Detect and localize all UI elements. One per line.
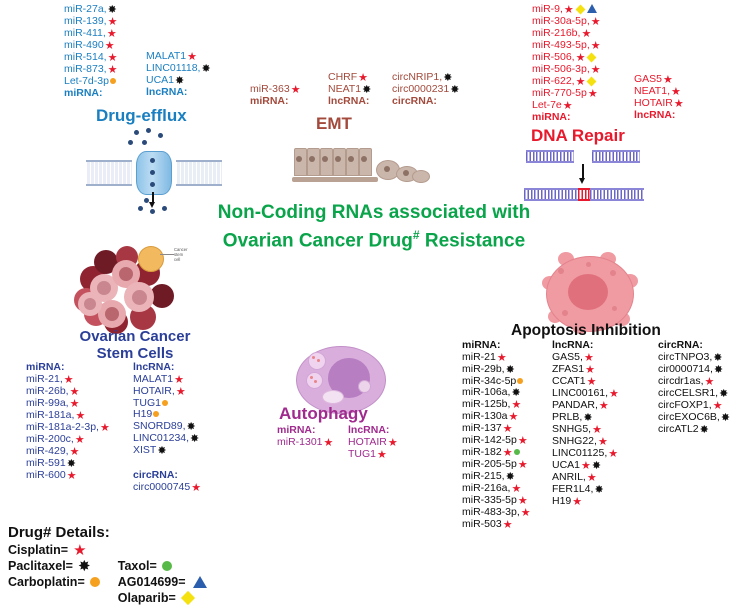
rna-name: miR-106a,: [462, 386, 510, 398]
cisplatin-star-icon: ★: [73, 543, 86, 558]
rna-name: circdr1as,: [658, 375, 704, 387]
cancer-stem-cell: [138, 246, 164, 272]
paclitaxel-burst-icon: ✸: [443, 73, 452, 84]
rna-name: LINC01234,: [133, 432, 189, 444]
cisplatin-star-icon: ★: [64, 375, 74, 386]
rna-name: miR-411,: [64, 27, 106, 39]
carboplatin-circle-icon: [90, 577, 100, 587]
paclitaxel-burst-icon: ✸: [157, 446, 166, 457]
rna-name: circFOXP1,: [658, 399, 712, 411]
rna-name: miR-21,: [26, 373, 63, 385]
cisplatin-star-icon: ★: [585, 365, 595, 376]
ocsc-circrna-list: circRNA:circ0000745★: [133, 470, 201, 494]
rna-name: miR-506-3p,: [532, 63, 590, 75]
title-superscript: #: [413, 228, 420, 242]
ocsc-lncrna-list: lncRNA:MALAT1★HOTAIR,★TUG1H19SNORD89,✸LI…: [133, 362, 199, 457]
cisplatin-star-icon: ★: [377, 450, 387, 461]
rna-class-header: miRNA:: [64, 88, 117, 100]
cisplatin-star-icon: ★: [713, 401, 723, 412]
paclitaxel-burst-icon: ✸: [583, 413, 592, 424]
cisplatin-star-icon: ★: [105, 41, 115, 52]
rna-class-header: circRNA:: [392, 96, 459, 108]
rna-name: Let-7d-3p: [64, 75, 109, 87]
carboplatin-circle-icon: [153, 411, 159, 417]
rna-name: ZFAS1: [552, 363, 584, 375]
rna-name: TUG1: [348, 448, 376, 460]
rna-name: circNRIP1,: [392, 71, 442, 83]
emt-circrna-list: circNRIP1,✸circ0000231✸circRNA:: [392, 72, 459, 108]
cisplatin-star-icon: ★: [663, 75, 673, 86]
cisplatin-star-icon: ★: [609, 389, 619, 400]
paclitaxel-burst-icon: ✸: [700, 425, 709, 436]
cisplatin-star-icon: ★: [497, 353, 507, 364]
section-title-dna-repair: DNA Repair: [531, 126, 625, 146]
cisplatin-star-icon: ★: [599, 401, 609, 412]
dna-repair-mirna-list: miR-9,★miR-30a-5p,★miR-216b,★miR-493-5p,…: [532, 4, 601, 124]
paclitaxel-burst-icon: ✸: [713, 353, 722, 364]
rna-name: miR-363: [250, 83, 290, 95]
paclitaxel-burst-icon: ✸: [594, 485, 603, 496]
rna-name: SNHG5,: [552, 423, 591, 435]
legend-row: Cisplatin=★: [8, 542, 100, 558]
rna-name: ANRIL,: [552, 471, 586, 483]
rna-name: PRLB,: [552, 411, 582, 423]
cisplatin-star-icon: ★: [509, 412, 519, 423]
rna-name: miR-335-5p: [462, 494, 517, 506]
drug-legend: Drug# Details: Cisplatin=★Paclitaxel=✸Ca…: [8, 524, 207, 606]
section-title-apoptosis: Apoptosis Inhibition: [511, 322, 661, 340]
paclitaxel-burst-icon: ✸: [450, 85, 459, 96]
rna-class-header: lncRNA:: [328, 96, 371, 108]
legend-label: Paclitaxel=: [8, 559, 73, 573]
cisplatin-star-icon: ★: [576, 53, 586, 64]
paclitaxel-burst-icon: ✸: [719, 389, 728, 400]
apoptosis-mirna-list: miRNA:miR-21★miR-29b,✸miR-34c-5pmiR-106a…: [462, 340, 531, 531]
rna-name: miR-99a,: [26, 397, 69, 409]
olaparib-diamond-icon: [587, 53, 597, 63]
olaparib-diamond-icon: [575, 5, 585, 15]
rna-name: CHRF: [328, 71, 357, 83]
rna-name: miR-139,: [64, 15, 107, 27]
cisplatin-star-icon: ★: [592, 425, 602, 436]
rna-entry: miR-1301★: [277, 437, 333, 449]
rna-name: circCELSR1,: [658, 387, 718, 399]
legend-title: Drug# Details:: [8, 524, 207, 541]
cisplatin-star-icon: ★: [576, 77, 586, 88]
dna-repair-lncrna-list: GAS5★NEAT1,★HOTAIR★lncRNA:: [634, 74, 684, 122]
ocsc-title-line2: Stem Cells: [97, 345, 174, 362]
rna-name: circATL2: [658, 423, 699, 435]
cisplatin-star-icon: ★: [108, 65, 118, 76]
rna-name: GAS5,: [552, 351, 583, 363]
paclitaxel-burst-icon: ✸: [190, 434, 199, 445]
section-title-drug-efflux: Drug-efflux: [96, 106, 187, 126]
rna-name: NEAT1,: [634, 85, 670, 97]
cisplatin-star-icon: ★: [291, 85, 301, 96]
cisplatin-star-icon: ★: [70, 399, 80, 410]
olaparib-diamond-icon: [181, 591, 195, 605]
cisplatin-star-icon: ★: [521, 508, 531, 519]
rna-name: FER1L4,: [552, 483, 593, 495]
rna-name: miR-137: [462, 422, 502, 434]
rna-name: miR-130a: [462, 410, 508, 422]
ag014699-triangle-icon: [193, 576, 207, 588]
paclitaxel-burst-icon: ✸: [721, 413, 730, 424]
cisplatin-star-icon: ★: [587, 377, 597, 388]
taxol-circle-icon: [162, 561, 172, 571]
rna-name: circ0000745: [133, 481, 190, 493]
rna-name: HOTAIR: [348, 436, 387, 448]
rna-name: Let-7e: [532, 99, 562, 111]
rna-name: GAS5: [634, 73, 662, 85]
rna-name: miR-600: [26, 469, 66, 481]
cisplatin-star-icon: ★: [107, 29, 117, 40]
rna-name: miR-622,: [532, 75, 575, 87]
stem-cell-annotation-line3: cell: [174, 257, 180, 262]
rna-name: miR-30a-5p,: [532, 15, 590, 27]
rna-name: NEAT1: [328, 83, 361, 95]
paclitaxel-burst-icon: ✸: [714, 365, 723, 376]
membrane-efflux-illustration: [86, 128, 222, 214]
rna-name: miR-21: [462, 351, 496, 363]
rna-name: CCAT1: [552, 375, 586, 387]
paclitaxel-burst-icon: ✸: [108, 5, 117, 16]
cisplatin-star-icon: ★: [564, 5, 574, 16]
rna-name: SNORD89,: [133, 420, 186, 432]
paclitaxel-burst-icon: ✸: [506, 365, 515, 376]
rna-name: miR-429,: [26, 445, 69, 457]
title-line-2-pre: Ovarian Cancer Drug: [223, 230, 413, 251]
legend-label: Taxol=: [118, 559, 157, 573]
rna-name: MALAT1: [133, 373, 173, 385]
rna-name: miR-29b,: [462, 363, 505, 375]
drug-efflux-lncrna-list: MALAT1★LINC01118,✸UCA1✸lncRNA:: [146, 51, 211, 99]
cisplatin-star-icon: ★: [75, 411, 85, 422]
cisplatin-star-icon: ★: [191, 483, 201, 494]
cisplatin-star-icon: ★: [503, 424, 513, 435]
legend-label: AG014699=: [118, 575, 186, 589]
drug-efflux-mirna-list: miR-27a,✸miR-139,★miR-411,★miR-490★miR-5…: [64, 4, 117, 99]
paclitaxel-burst-icon: ✸: [362, 85, 371, 96]
rna-name: HOTAIR: [634, 97, 673, 109]
paclitaxel-burst-icon: ✸: [187, 422, 196, 433]
rna-name: circTNPO3,: [658, 351, 712, 363]
rna-name: TUG1: [133, 397, 161, 409]
emt-lncrna-list: CHRF★NEAT1✸lncRNA:: [328, 72, 371, 108]
rna-name: circ0000231: [392, 83, 449, 95]
cisplatin-star-icon: ★: [176, 387, 186, 398]
legend-row: Olaparib=: [118, 590, 207, 606]
legend-label: Carboplatin=: [8, 575, 85, 589]
paclitaxel-burst-icon: ✸: [201, 64, 210, 75]
rna-name: miR-770-5p: [532, 87, 587, 99]
rna-name: miR-216b,: [532, 27, 580, 39]
cisplatin-star-icon: ★: [671, 87, 681, 98]
cisplatin-star-icon: ★: [100, 423, 110, 434]
carboplatin-circle-icon: [517, 378, 523, 384]
rna-name: MALAT1: [146, 50, 186, 62]
cisplatin-star-icon: ★: [503, 448, 513, 459]
cisplatin-star-icon: ★: [674, 99, 684, 110]
autophagy-lncrna-list: lncRNA:HOTAIR★TUG1★: [348, 425, 398, 461]
rna-name: circEXOC6B,: [658, 411, 720, 423]
legend-row: Carboplatin=: [8, 574, 100, 590]
cisplatin-star-icon: ★: [503, 520, 513, 531]
cisplatin-star-icon: ★: [518, 436, 528, 447]
cisplatin-star-icon: ★: [358, 73, 368, 84]
paclitaxel-burst-icon: ✸: [67, 459, 76, 470]
legend-row: Paclitaxel=✸: [8, 558, 100, 574]
legend-label: Olaparib=: [118, 591, 176, 605]
ovarian-cancer-stem-cells-illustration: Cancer stem cell: [72, 244, 200, 336]
paclitaxel-burst-icon: ✸: [511, 388, 520, 399]
rna-name: miR-514,: [64, 51, 107, 63]
rna-name: SNHG22,: [552, 435, 597, 447]
rna-name: miR-503: [462, 518, 502, 530]
ag014699-triangle-icon: [587, 4, 597, 13]
rna-entry: TUG1★: [348, 449, 398, 461]
rna-name: miR-216a,: [462, 482, 510, 494]
rna-entry: Let-7d-3p: [64, 76, 117, 88]
paclitaxel-burst-icon: ✸: [506, 472, 515, 483]
rna-name: miR-483-3p,: [462, 506, 520, 518]
carboplatin-circle-icon: [110, 78, 116, 84]
section-title-ocsc: Ovarian Cancer Stem Cells: [58, 328, 212, 362]
cisplatin-star-icon: ★: [588, 89, 598, 100]
cisplatin-star-icon: ★: [598, 437, 608, 448]
rna-name: miR-1301: [277, 436, 323, 448]
rna-name: miR-200c,: [26, 433, 74, 445]
emt-mirna-list: miR-363★miRNA:: [250, 84, 301, 108]
cisplatin-star-icon: ★: [388, 438, 398, 449]
cisplatin-star-icon: ★: [174, 375, 184, 386]
rna-name: UCA1: [146, 74, 174, 86]
legend-column-2: Taxol=AG014699=Olaparib=: [118, 542, 207, 606]
cisplatin-star-icon: ★: [581, 461, 591, 472]
cisplatin-star-icon: ★: [518, 460, 528, 471]
rna-name: cir0000714,: [658, 363, 713, 375]
rna-name: PANDAR,: [552, 399, 598, 411]
rna-name: miR-215,: [462, 470, 505, 482]
rna-name: miR-205-5p: [462, 458, 517, 470]
rna-name: miR-27a,: [64, 3, 107, 15]
rna-name: miR-125b,: [462, 398, 510, 410]
title-line-1: Non-Coding RNAs associated with: [218, 202, 530, 223]
paclitaxel-burst-icon: ✸: [175, 76, 184, 87]
cisplatin-star-icon: ★: [511, 484, 521, 495]
cisplatin-star-icon: ★: [108, 53, 118, 64]
legend-column-1: Cisplatin=★Paclitaxel=✸Carboplatin=: [8, 542, 100, 606]
rna-name: miR-182: [462, 446, 502, 458]
rna-name: miR-9,: [532, 3, 563, 15]
rna-class-header: miRNA:: [532, 112, 601, 124]
rna-name: miR-181a,: [26, 409, 74, 421]
rna-name: H19: [133, 408, 152, 420]
cisplatin-star-icon: ★: [108, 17, 118, 28]
rna-name: H19: [552, 495, 571, 507]
rna-entry: circATL2✸: [658, 424, 730, 436]
rna-name: LINC01118,: [146, 62, 200, 74]
taxol-circle-icon: [514, 449, 520, 455]
rna-entry: miR-503★: [462, 519, 531, 531]
olaparib-diamond-icon: [587, 77, 597, 87]
paclitaxel-burst-icon: ✸: [78, 559, 91, 574]
autophagy-mirna-list: miRNA:miR-1301★: [277, 425, 333, 449]
rna-name: miR-493-5p,: [532, 39, 590, 51]
emt-illustration: [292, 126, 432, 198]
cisplatin-star-icon: ★: [591, 41, 601, 52]
cisplatin-star-icon: ★: [324, 438, 334, 449]
cisplatin-star-icon: ★: [705, 377, 715, 388]
cisplatin-star-icon: ★: [70, 387, 80, 398]
legend-row: Taxol=: [118, 558, 207, 574]
rna-name: XIST: [133, 444, 156, 456]
carboplatin-circle-icon: [162, 400, 168, 406]
paclitaxel-burst-icon: ✸: [592, 461, 601, 472]
cisplatin-star-icon: ★: [587, 473, 597, 484]
cisplatin-star-icon: ★: [591, 65, 601, 76]
legend-label: Cisplatin=: [8, 543, 68, 557]
cisplatin-star-icon: ★: [187, 52, 197, 63]
cisplatin-star-icon: ★: [584, 353, 594, 364]
cisplatin-star-icon: ★: [563, 101, 573, 112]
ocsc-mirna-list: miRNA:miR-21,★miR-26b,★miR-99a,★miR-181a…: [26, 362, 110, 482]
rna-name: UCA1: [552, 459, 580, 471]
ocsc-title-line1: Ovarian Cancer: [80, 328, 191, 345]
rna-name: miR-506,: [532, 51, 575, 63]
cisplatin-star-icon: ★: [581, 29, 591, 40]
rna-entry: XIST✸: [133, 445, 199, 457]
dna-repair-illustration: [520, 148, 650, 204]
rna-name: miR-490: [64, 39, 104, 51]
rna-entry: miR-600★: [26, 470, 110, 482]
title-line-2-post: Resistance: [420, 230, 526, 251]
rna-name: LINC01125,: [552, 447, 607, 459]
rna-name: HOTAIR,: [133, 385, 175, 397]
cisplatin-star-icon: ★: [572, 497, 582, 508]
apoptosis-circrna-list: circRNA:circTNPO3,✸cir0000714,✸circdr1as…: [658, 340, 730, 436]
cisplatin-star-icon: ★: [591, 17, 601, 28]
rna-name: LINC00161,: [552, 387, 608, 399]
rna-name: miR-142-5p: [462, 434, 517, 446]
cisplatin-star-icon: ★: [608, 449, 618, 460]
rna-name: miR-34c-5p: [462, 375, 516, 387]
rna-entry: H19★: [552, 496, 619, 508]
cisplatin-star-icon: ★: [70, 447, 80, 458]
cisplatin-star-icon: ★: [75, 435, 85, 446]
cisplatin-star-icon: ★: [67, 471, 77, 482]
rna-entry: circ0000745★: [133, 482, 201, 494]
rna-class-header: lncRNA:: [146, 87, 211, 99]
rna-name: miR-181a-2-3p,: [26, 421, 99, 433]
rna-class-header: lncRNA:: [634, 110, 684, 122]
rna-name: miR-873,: [64, 63, 107, 75]
apoptosis-lncrna-list: lncRNA:GAS5,★ZFAS1★CCAT1★LINC00161,★PAND…: [552, 340, 619, 508]
section-title-autophagy: Autophagy: [279, 404, 368, 424]
cisplatin-star-icon: ★: [518, 496, 528, 507]
rna-class-header: miRNA:: [250, 96, 301, 108]
legend-row: AG014699=: [118, 574, 207, 590]
rna-name: miR-591: [26, 457, 66, 469]
cisplatin-star-icon: ★: [511, 400, 521, 411]
rna-name: miR-26b,: [26, 385, 69, 397]
